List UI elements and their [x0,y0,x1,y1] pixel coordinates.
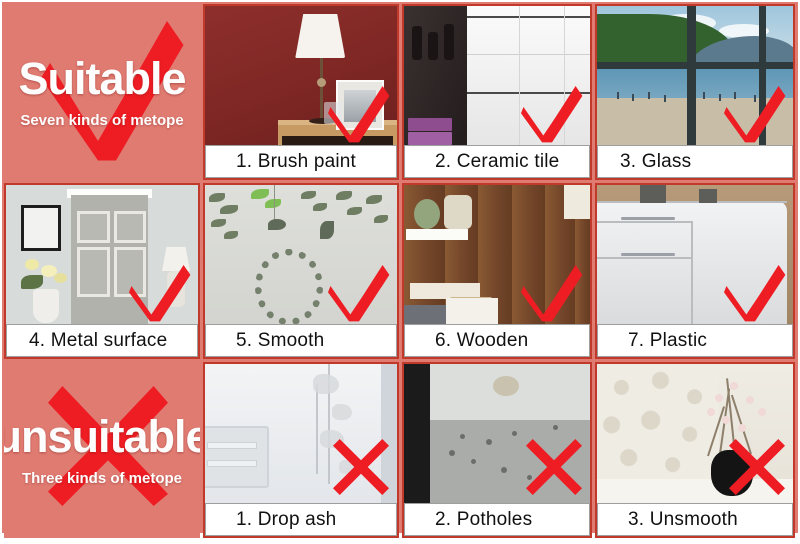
photo-wooden [404,185,590,324]
window-crossbar [597,62,793,69]
caption-metal-surface: 4. Metal surface [6,324,198,357]
caption-brush-paint: 1. Brush paint [205,145,397,178]
check-icon [520,260,584,322]
caption-potholes: 2. Potholes [404,503,590,536]
surface-card-metal-surface[interactable]: 4. Metal surface [4,183,200,359]
floating-shelf [406,229,468,240]
cream-vase [444,195,472,229]
surface-grid: Suitable Seven kinds of metope [2,2,798,533]
check-icon [520,81,584,143]
framed-picture [21,205,61,251]
drawer-handle [621,217,676,220]
x-icon [526,439,582,495]
x-icon [729,439,785,495]
unsuitable-title: unsuitable [4,414,200,459]
photo-plastic [597,185,793,324]
check-icon [723,81,787,143]
wreath-decal [255,249,323,324]
x-icon [333,439,389,495]
caption-drop-ash: 1. Drop ash [205,503,397,536]
unsuitable-banner: unsuitable Three kinds of metope [4,362,200,538]
caption-smooth: 5. Smooth [205,324,397,357]
lamp-stem [320,58,323,120]
surface-card-potholes[interactable]: 2. Potholes [402,362,592,538]
surface-card-ceramic-tile[interactable]: 2. Ceramic tile [402,4,592,180]
suitable-title: Suitable [18,56,185,101]
tile-grout-line [467,16,590,18]
suitable-banner: Suitable Seven kinds of metope [4,4,200,180]
caption-plastic: 7. Plastic [597,324,793,357]
textured-panel [597,364,719,481]
photo-potholes [404,364,590,503]
caption-ceramic-tile: 2. Ceramic tile [404,145,590,178]
caption-wooden: 6. Wooden [404,324,590,357]
photo-brush-paint [205,6,397,145]
window-mullion [687,6,696,145]
bird-decal [268,219,286,230]
photo-metal-surface [6,185,198,324]
drawer-handle [621,253,676,256]
photo-drop-ash [205,364,397,503]
lamp-knob [317,78,326,87]
surface-card-smooth[interactable]: 5. Smooth [203,183,399,359]
surface-card-plastic[interactable]: 7. Plastic [595,183,795,359]
check-icon [723,260,787,322]
lamp-shade [564,185,590,219]
green-vase [414,199,440,229]
photo-unsmooth [597,364,793,503]
poster: Suitable Seven kinds of metope [2,2,798,533]
caption-glass: 3. Glass [597,145,793,178]
radiator [205,426,269,488]
caption-unsmooth: 3. Unsmooth [597,503,793,536]
check-icon [327,260,391,322]
surface-card-wooden[interactable]: 6. Wooden [402,183,592,359]
check-icon [327,81,391,143]
flower-vase [33,289,59,323]
surface-card-glass[interactable]: 3. Glass [595,4,795,180]
white-furniture [446,298,498,324]
photo-smooth [205,185,397,324]
bird-decal [320,221,334,239]
unsuitable-subtitle: Three kinds of metope [22,470,182,487]
surface-card-unsmooth[interactable]: 3. Unsmooth [595,362,795,538]
lamp-shade [295,14,345,58]
photo-glass [597,6,793,145]
suitable-subtitle: Seven kinds of metope [20,112,183,129]
photo-ceramic-tile [404,6,590,145]
surface-card-drop-ash[interactable]: 1. Drop ash [203,362,399,538]
check-icon [128,260,192,322]
surface-card-brush-paint[interactable]: 1. Brush paint [203,4,399,180]
